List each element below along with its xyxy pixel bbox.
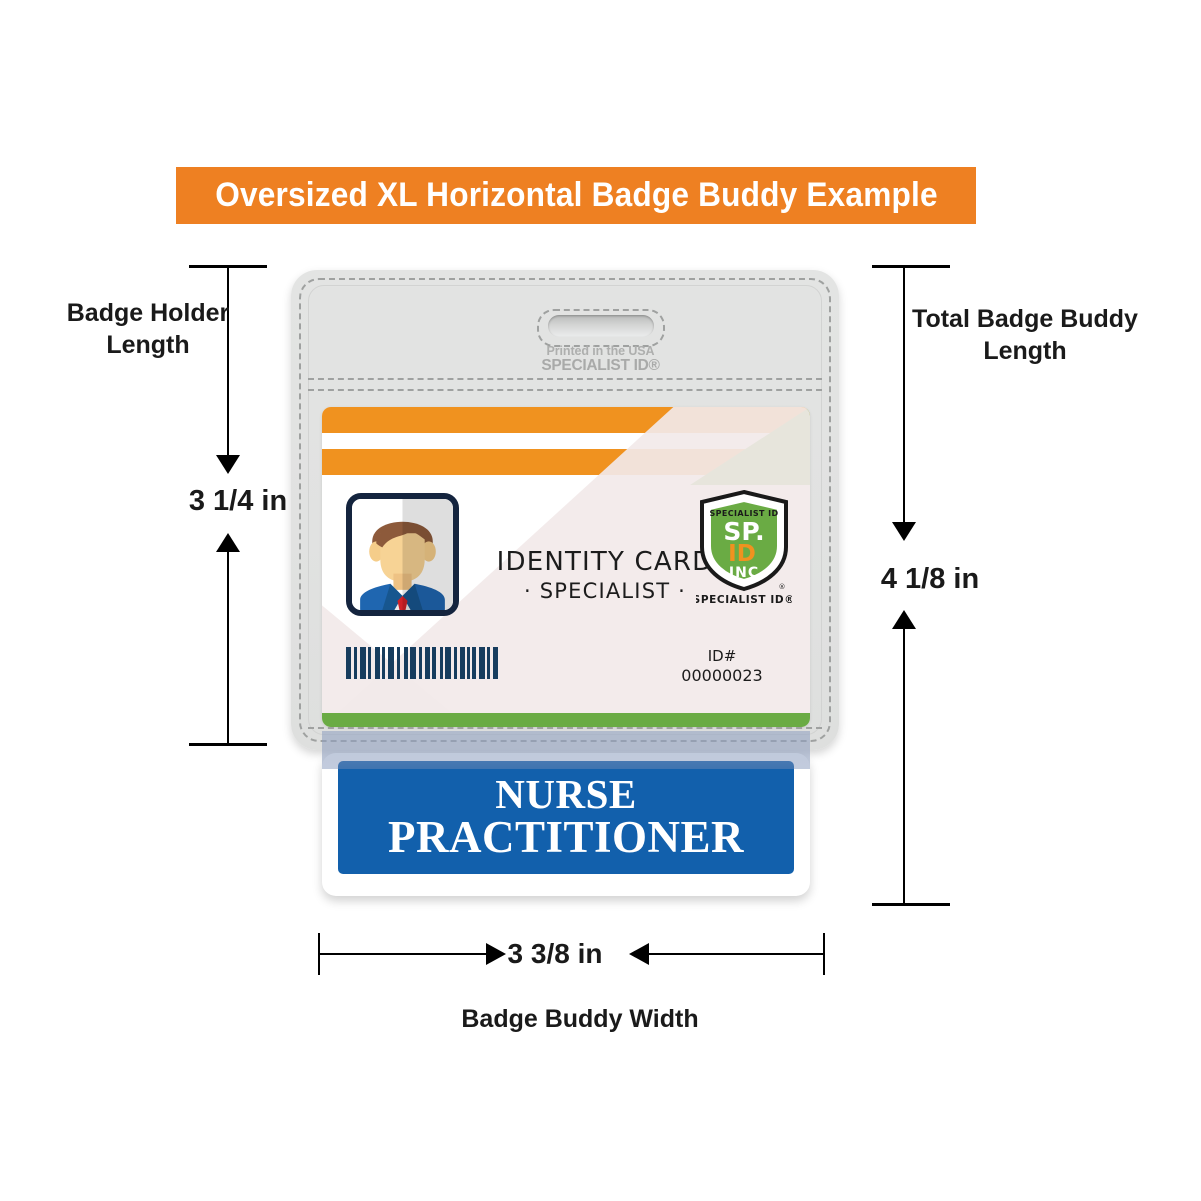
svg-text:SPECIALIST ID®: SPECIALIST ID® (696, 594, 792, 606)
width-dim-right-tick (823, 933, 825, 975)
person-photo-icon (346, 493, 459, 616)
title-banner: Oversized XL Horizontal Badge Buddy Exam… (176, 167, 976, 224)
width-dim-line-left (318, 953, 493, 955)
card-title: IDENTITY CARD (490, 547, 720, 577)
holder-brand-text: SPECIALIST ID® (0, 357, 1201, 375)
barcode-icon (346, 647, 498, 679)
right-dim-arrow-down (892, 522, 916, 541)
left-dim-bottom-tick (189, 743, 267, 746)
svg-text:ID: ID (728, 541, 756, 567)
holder-seam-lower (308, 727, 822, 729)
svg-text:®: ® (779, 583, 786, 591)
total-badge-buddy-length-line1: Total Badge Buddy (900, 303, 1150, 335)
id-number-value: 00000023 (652, 666, 792, 685)
badge-slot-icon (548, 315, 654, 337)
right-dim-bottom-tick (872, 903, 950, 906)
badge-buddy-panel: NURSE PRACTITIONER (338, 761, 794, 874)
right-dim-line-lower (903, 625, 905, 905)
title-banner-text: Oversized XL Horizontal Badge Buddy Exam… (215, 176, 938, 215)
holder-seam-upper (308, 378, 822, 380)
badge-buddy-line2: PRACTITIONER (388, 815, 744, 861)
left-dim-arrow-down (216, 455, 240, 474)
badge-buddy-width-label: Badge Buddy Width (420, 1005, 740, 1034)
left-dim-line-lower (227, 548, 229, 745)
id-number-label: ID# (652, 647, 792, 665)
total-badge-buddy-length-value: 4 1/8 in (840, 563, 1020, 596)
width-dim-line-right (648, 953, 825, 955)
right-dim-top-tick (872, 265, 950, 268)
specialist-id-shield-logo-icon: SPECIALIST ID SP. ID INC ® SPECIALIST ID… (696, 489, 792, 607)
badge-buddy-line1: NURSE (495, 774, 636, 814)
width-dim-arrow-left (629, 943, 649, 965)
card-green-bottom-strip (322, 713, 810, 727)
badge-holder-length-line1: Badge Holder (42, 297, 254, 329)
badge-buddy-width-value: 3 3/8 in (488, 938, 622, 970)
diagram-canvas: Oversized XL Horizontal Badge Buddy Exam… (0, 0, 1201, 1201)
id-card: IDENTITY CARD · SPECIALIST · SPECIALIST … (322, 407, 810, 727)
svg-text:INC: INC (729, 565, 759, 581)
holder-seam-upper-2 (308, 389, 822, 391)
badge-buddy: NURSE PRACTITIONER (322, 753, 810, 896)
printed-in-usa-text: Printed in the USA (0, 344, 1201, 358)
card-subtitle: · SPECIALIST · (490, 579, 720, 603)
